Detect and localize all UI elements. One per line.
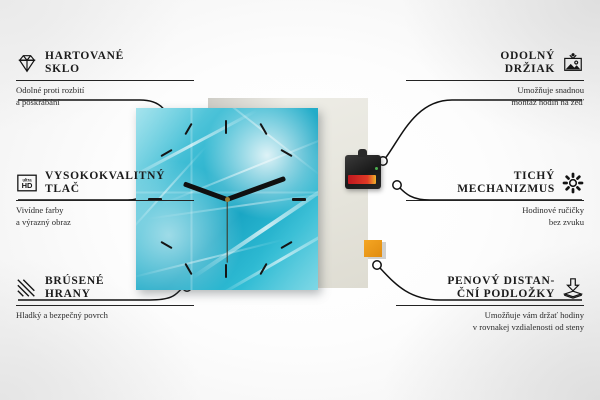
feature-description: Hladký a bezpečný povrch <box>16 310 194 322</box>
infographic-canvas: HARTOVANÉ SKLO Odolné proti rozbití a po… <box>0 0 600 400</box>
diagonal-lines-icon <box>16 277 38 299</box>
feature-description: Umožňuje snadnou montáž hodin na zeď <box>406 85 584 108</box>
feature-desc-line: montáž hodin na zeď <box>406 97 584 109</box>
feature-title-line: HARTOVANÉ <box>45 50 124 63</box>
feature-desc-line: Umožňuje vám držať hodiny <box>396 310 584 322</box>
diamond-icon <box>16 52 38 74</box>
feature-description: Vivídne farby a výrazný obraz <box>16 205 194 228</box>
hour-tick <box>225 120 227 134</box>
feature-divider <box>16 305 194 306</box>
feature-desc-line: Hodinové ručičky <box>406 205 584 217</box>
foam-spacer-pad <box>364 240 382 257</box>
feature-divider <box>406 200 584 201</box>
gear-icon <box>562 172 584 194</box>
feature-foam-pads: PENOVÝ DISTAN- ČNÍ PODLOŽKY Umožňuje vám… <box>396 275 584 333</box>
connector-node-foam-pads <box>373 261 381 269</box>
movement-indicator-dot <box>375 167 378 170</box>
movement-battery <box>348 175 376 184</box>
feature-description: Umožňuje vám držať hodiny v rovnakej vzd… <box>396 310 584 333</box>
feature-divider <box>406 80 584 81</box>
feature-title-line: SKLO <box>45 63 124 76</box>
feature-desc-line: v rovnakej vzdialenosti od steny <box>396 322 584 334</box>
feature-title-line: VYSOKOKVALITNÝ <box>45 170 165 183</box>
connector-line-holder <box>384 100 582 160</box>
feature-durable-holder: ODOLNÝ DRŽIAK Umožňuje snadnou montáž ho… <box>406 50 584 108</box>
feature-desc-line: a poškrábání <box>16 97 194 109</box>
feature-divider <box>16 200 194 201</box>
second-hand <box>226 199 227 263</box>
feature-title-line: ČNÍ PODLOŽKY <box>447 288 555 301</box>
feature-title-line: TICHÝ <box>457 170 555 183</box>
feature-title-line: BRÚSENÉ <box>45 275 104 288</box>
picture-frame-hanger-icon <box>562 52 584 74</box>
feature-description: Hodinové ručičky bez zvuku <box>406 205 584 228</box>
pad-down-arrow-icon <box>562 277 584 299</box>
hour-tick <box>225 264 227 278</box>
clock-movement <box>345 155 381 189</box>
feature-divider <box>396 305 584 306</box>
hands-center-cap <box>225 197 230 202</box>
feature-desc-line: bez zvuku <box>406 217 584 229</box>
feature-description: Odolné proti rozbití a poškrábání <box>16 85 194 108</box>
feature-desc-line: Hladký a bezpečný povrch <box>16 310 194 322</box>
feature-desc-line: Umožňuje snadnou <box>406 85 584 97</box>
feature-title-line: DRŽIAK <box>500 63 555 76</box>
movement-shaft <box>358 149 367 157</box>
feature-title-line: HRANY <box>45 288 104 301</box>
feature-title-line: PENOVÝ DISTAN- <box>447 275 555 288</box>
svg-text:HD: HD <box>22 181 33 190</box>
feature-hardened-glass: HARTOVANÉ SKLO Odolné proti rozbití a po… <box>16 50 194 108</box>
feature-desc-line: Odolné proti rozbití <box>16 85 194 97</box>
feature-brushed-edges: BRÚSENÉ HRANY Hladký a bezpečný povrch <box>16 275 194 322</box>
feature-silent-mechanism: TICHÝ MECHANIZMUS Hodinové ručičky bez z… <box>406 170 584 228</box>
feature-title-line: MECHANIZMUS <box>457 183 555 196</box>
feature-divider <box>16 80 194 81</box>
feature-title-line: ODOLNÝ <box>500 50 555 63</box>
connector-node-mechanism <box>393 181 401 189</box>
ultra-hd-icon: ultra HD <box>16 172 38 194</box>
hour-tick <box>292 198 306 201</box>
feature-desc-line: a výrazný obraz <box>16 217 194 229</box>
feature-desc-line: Vivídne farby <box>16 205 194 217</box>
feature-hd-print: ultra HD VYSOKOKVALITNÝ TLAČ Vivídne far… <box>16 170 194 228</box>
feature-title-line: TLAČ <box>45 183 165 196</box>
